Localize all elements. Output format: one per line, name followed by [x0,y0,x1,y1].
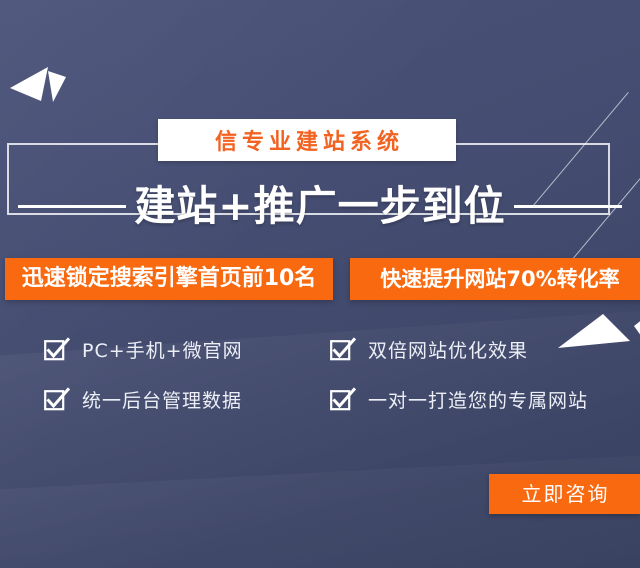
list-item-label: 一对一打造您的专属网站 [368,392,588,411]
consult-now-label: 立即咨询 [520,484,610,504]
list-item-label: 统一后台管理数据 [82,392,242,411]
checkbox-checked-icon [44,340,66,362]
headline-rule-right [514,205,622,208]
promo-banner: 信专业建站系统 建站+推广一步到位 迅速锁定搜索引擎首页前10名 快速提升网站7… [0,0,640,568]
subtitle-label-box: 信专业建站系统 [158,119,456,161]
claims-row: 迅速锁定搜索引擎首页前10名 快速提升网站70%转化率 [0,258,640,300]
paper-plane-icon [8,56,74,108]
claim-text: 迅速锁定搜索引擎首页前10名 [22,268,317,290]
claim-badge-seo-ranking: 迅速锁定搜索引擎首页前10名 [5,258,333,300]
list-item: 双倍网站优化效果 [330,334,528,368]
list-item: PC+手机+微官网 [44,334,243,368]
claim-badge-conversion-rate: 快速提升网站70%转化率 [350,258,640,300]
checkbox-checked-icon [330,390,352,412]
headline-row: 建站+推广一步到位 [0,180,640,232]
headline-rule-left [18,205,126,208]
feature-list: PC+手机+微官网 统一后台管理数据 双倍网站优化效果 [0,330,640,430]
claim-text: 快速提升网站70%转化率 [380,269,619,290]
page-title: 建站+推广一步到位 [134,186,505,227]
list-item-label: 双倍网站优化效果 [368,342,528,361]
checkbox-checked-icon [330,340,352,362]
consult-now-button[interactable]: 立即咨询 [489,474,640,514]
list-item: 统一后台管理数据 [44,384,242,418]
list-item-label: PC+手机+微官网 [82,342,243,361]
subtitle-text: 信专业建站系统 [210,124,404,156]
list-item: 一对一打造您的专属网站 [330,384,588,418]
checkbox-checked-icon [44,390,66,412]
